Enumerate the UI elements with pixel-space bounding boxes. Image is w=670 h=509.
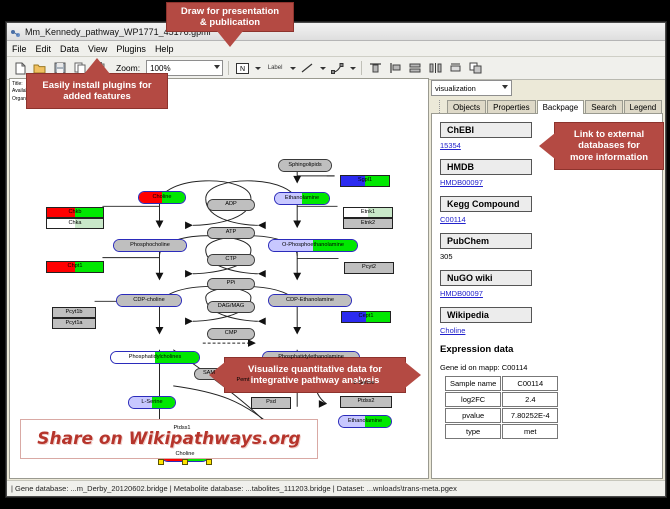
align-top-icon[interactable]	[367, 60, 384, 77]
node-label: Etnk2	[361, 221, 375, 227]
node-label: Pcyt2	[362, 265, 376, 271]
menu-bar[interactable]: File Edit Data View Plugins Help	[7, 41, 665, 57]
cell-label: pvalue	[445, 408, 501, 423]
db-title-wikipedia: Wikipedia	[440, 307, 532, 323]
node-label: Psd	[266, 400, 276, 406]
db-title-pubchem: PubChem	[440, 233, 532, 249]
menu-item-plugins[interactable]: Plugins	[116, 44, 146, 54]
callout-arrow-right	[405, 362, 421, 388]
tab-search[interactable]: Search	[585, 100, 622, 113]
node-label: CTP	[225, 257, 236, 263]
chevron-down-icon[interactable]	[350, 67, 356, 70]
menu-item-data[interactable]: Data	[60, 44, 79, 54]
metabolite-node-phosphocholine[interactable]: Phosphocholine	[113, 239, 187, 252]
chevron-down-icon[interactable]	[255, 67, 261, 70]
tab-objects[interactable]: Objects	[447, 100, 486, 113]
metabolite-node-sphingolipids[interactable]: Sphingolipids	[278, 159, 332, 172]
metabolite-node-cmp[interactable]: CMP	[207, 328, 255, 340]
metabolite-node-ptd_choline[interactable]: Phosphatidylcholines	[110, 351, 200, 364]
common-width-icon[interactable]	[447, 60, 464, 77]
node-label: Sgpl1	[358, 178, 372, 184]
gene-node-etnk2[interactable]: Etnk2	[343, 218, 393, 229]
tab-drag-handle[interactable]	[439, 100, 444, 113]
metabolite-node-ctp[interactable]: CTP	[207, 254, 255, 266]
gene-node-chka[interactable]: Chka	[46, 218, 104, 229]
menu-item-file[interactable]: File	[12, 44, 27, 54]
callout-arrow-left	[539, 133, 555, 159]
menu-item-edit[interactable]: Edit	[36, 44, 52, 54]
chevron-down-icon[interactable]	[214, 65, 220, 69]
metabolite-node-cdp_ethanol[interactable]: CDP-Ethanolamine	[268, 294, 352, 307]
title-bar: Mm_Kennedy_pathway_WP1771_45176.gpml	[7, 23, 665, 41]
cell-label: Sample name	[445, 376, 501, 391]
gene-node-ptdss2[interactable]: Ptdss2	[340, 396, 392, 408]
node-label: Phosphatidylethanolamine	[278, 355, 344, 361]
gene-node-cept1[interactable]: Cept1	[341, 311, 391, 323]
callout-share: Share on Wikipathways.org	[20, 419, 318, 459]
visualization-value: visualization	[435, 84, 476, 93]
node-label: PPi	[227, 281, 236, 287]
node-label: Pcyt1b	[65, 310, 82, 316]
db-link-kegg[interactable]: C00114	[440, 215, 656, 224]
node-label: DAG/MAG	[218, 304, 244, 310]
db-block-pubchem: PubChem 305	[440, 231, 656, 261]
table-row: pvalue 7.80252E-4	[445, 408, 558, 423]
db-link-hmdb[interactable]: HMDB00097	[440, 178, 656, 187]
metabolite-node-adp[interactable]: ADP	[207, 199, 255, 211]
callout-arrow-down	[217, 31, 243, 47]
node-label: ATP	[226, 230, 236, 236]
chevron-down-icon[interactable]	[502, 85, 508, 89]
bring-to-front-icon[interactable]	[467, 60, 484, 77]
db-title-nugo: NuGO wiki	[440, 270, 532, 286]
expression-table: Sample name C00114 log2FC 2.4 pvalue 7.8…	[444, 375, 559, 440]
node-label: Ptdss2	[357, 399, 374, 405]
cell-value: 7.80252E-4	[502, 408, 558, 423]
node-label: O-Phosphoethanolamine	[282, 243, 344, 249]
data-node-tool-icon[interactable]: N	[234, 60, 251, 77]
node-label: Chkb	[68, 210, 81, 216]
callout-draw: Draw for presentation & publication	[166, 2, 294, 32]
status-bar-text: | Gene database: ...m_Derby_20120602.bri…	[11, 484, 457, 493]
gene-node-chkb[interactable]: Chkb	[46, 207, 104, 218]
node-label: L-Serine	[141, 400, 162, 406]
node-label: ADP	[225, 202, 237, 208]
metabolite-node-ppi[interactable]: PPi	[207, 278, 255, 290]
metabolite-node-choline_top[interactable]: Choline	[138, 191, 186, 204]
visualization-row: visualization	[431, 78, 663, 98]
node-label: Pcyt1a	[65, 321, 82, 327]
node-label: Pemt	[236, 378, 249, 384]
chevron-down-icon[interactable]	[290, 67, 296, 70]
metabolite-node-atp[interactable]: ATP	[207, 227, 255, 239]
interaction-tool-icon[interactable]	[329, 60, 346, 77]
align-rows-icon[interactable]	[407, 60, 424, 77]
metabolite-node-dag_mag[interactable]: DAG/MAG	[207, 301, 255, 313]
callout-share-text: Share on Wikipathways.org	[37, 429, 300, 449]
metabolite-node-cdp_choline[interactable]: CDP-choline	[116, 294, 182, 307]
node-label: Etnk1	[361, 210, 375, 216]
metabolite-node-o_phosphoetha[interactable]: O-Phosphoethanolamine	[268, 239, 358, 252]
node-label: Phosphocholine	[130, 243, 170, 249]
node-label: CMP	[225, 331, 237, 337]
selection-handle[interactable]	[158, 459, 164, 465]
db-link-nugo[interactable]: HMDB00097	[440, 289, 656, 298]
expression-data-heading: Expression data	[440, 344, 656, 355]
node-label: Sphingolipids	[288, 163, 321, 169]
table-row: type met	[445, 424, 558, 439]
node-label: Chka	[68, 221, 81, 227]
callout-link: Link to external databases for more info…	[554, 122, 664, 170]
db-title-chebi: ChEBI	[440, 122, 532, 138]
db-block-kegg: Kegg Compound C00114	[440, 194, 656, 224]
node-label: Choline	[153, 195, 172, 201]
metabolite-node-ethanolamine[interactable]: Ethanolamine	[274, 192, 330, 205]
gene-node-etnk1[interactable]: Etnk1	[343, 207, 393, 218]
node-label: L-Serine	[353, 381, 374, 387]
db-title-kegg: Kegg Compound	[440, 196, 532, 212]
status-bar: | Gene database: ...m_Derby_20120602.bri…	[7, 480, 665, 496]
side-panel-tabs[interactable]: Objects Properties Backpage Search Legen…	[431, 98, 663, 114]
db-block-wikipedia: Wikipedia Choline	[440, 305, 656, 335]
cell-value: met	[502, 424, 558, 439]
tab-backpage[interactable]: Backpage	[537, 100, 585, 114]
node-label: Phosphatidylcholines	[129, 355, 182, 361]
cell-value: 2.4	[502, 392, 558, 407]
chevron-down-icon[interactable]	[320, 67, 326, 70]
db-link-wikipedia[interactable]: Choline	[440, 326, 656, 335]
db-value-pubchem: 305	[440, 252, 656, 261]
selection-handle[interactable]	[182, 459, 188, 465]
cell-label: type	[445, 424, 501, 439]
node-label: Ethanolamine	[285, 196, 319, 202]
label-tool-icon[interactable]: Label	[264, 60, 286, 77]
node-label: Ptdss1	[173, 426, 190, 432]
align-left-icon[interactable]	[387, 60, 404, 77]
menu-item-help[interactable]: Help	[155, 44, 174, 54]
tab-properties[interactable]: Properties	[487, 100, 535, 113]
gene-node-psd[interactable]: Psd	[251, 397, 291, 409]
metabolite-node-ethanolamine_b[interactable]: Ethanolamine	[338, 415, 392, 428]
node-label: Choline	[176, 452, 195, 458]
node-label: CDP-choline	[133, 298, 164, 304]
callout-arrow-up	[84, 58, 110, 74]
gene-node-pcyt2[interactable]: Pcyt2	[344, 262, 394, 274]
gene-node-pcyt1b[interactable]: Pcyt1b	[52, 307, 96, 318]
selection-handle[interactable]	[206, 459, 212, 465]
metabolite-node-lserine_left[interactable]: L-Serine	[128, 396, 176, 409]
node-label: CDP-Ethanolamine	[286, 298, 334, 304]
screenshot-root: Mm_Kennedy_pathway_WP1771_45176.gpml Fil…	[0, 0, 670, 509]
table-row: log2FC 2.4	[445, 392, 558, 407]
distribute-horizontal-icon[interactable]	[427, 60, 444, 77]
gene-node-sgpl1[interactable]: Sgpl1	[340, 175, 390, 187]
zoom-label: Zoom:	[116, 63, 140, 73]
line-tool-icon[interactable]	[299, 60, 316, 77]
tab-legend[interactable]: Legend	[624, 100, 663, 113]
table-row: Sample name C00114	[445, 376, 558, 391]
callout-visualize: Visualize quantitative data for integrat…	[224, 357, 406, 393]
menu-item-view[interactable]: View	[88, 44, 107, 54]
svg-text:N: N	[240, 66, 245, 73]
visualization-combobox[interactable]: visualization	[431, 80, 512, 96]
toolbar-separator	[361, 61, 362, 75]
node-label: Chpt1	[68, 264, 83, 270]
gene-node-chpt1[interactable]: Chpt1	[46, 261, 104, 273]
zoom-value: 100%	[150, 64, 170, 73]
cell-value: C00114	[502, 376, 558, 391]
callout-plugins: Easily install plugins for added feature…	[26, 73, 168, 109]
node-label: Ethanolamine	[348, 419, 382, 425]
db-title-hmdb: HMDB	[440, 159, 532, 175]
cell-label: log2FC	[445, 392, 501, 407]
node-label: SAM	[203, 371, 215, 377]
gene-node-pcyt1a[interactable]: Pcyt1a	[52, 318, 96, 329]
db-block-nugo: NuGO wiki HMDB00097	[440, 268, 656, 298]
app-icon	[10, 26, 21, 37]
gene-id-on-mapp: Gene id on mapp: C00114	[440, 363, 656, 372]
toolbar-separator	[228, 61, 229, 75]
node-label: Cept1	[359, 314, 374, 320]
